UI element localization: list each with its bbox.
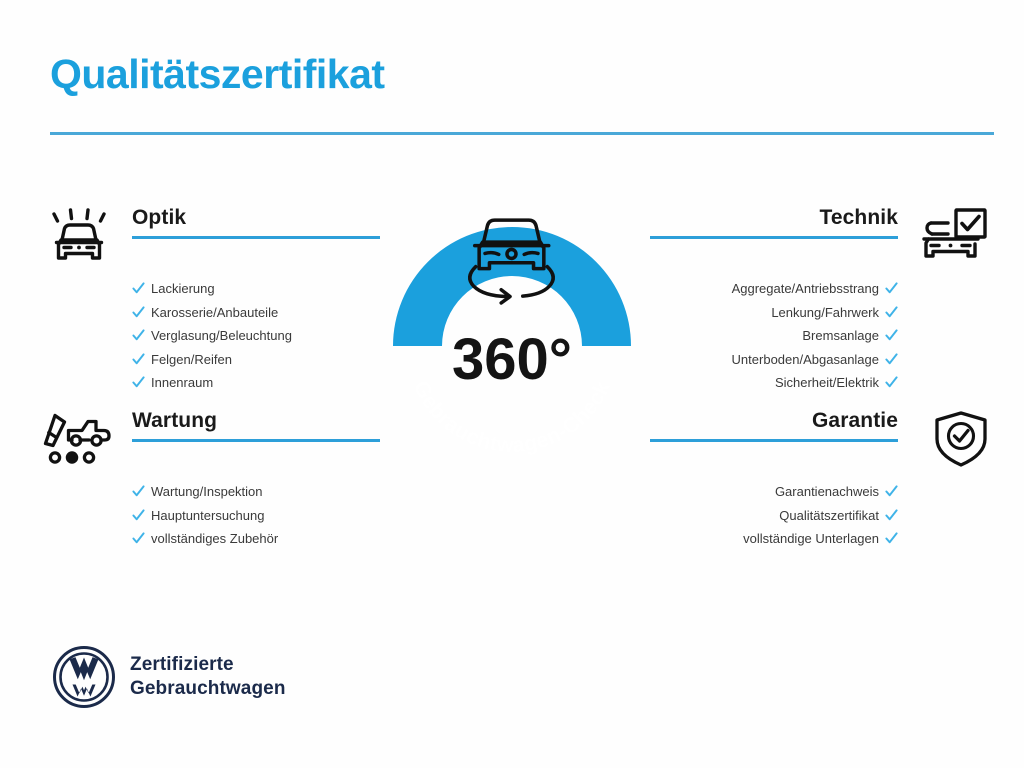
list-item-label: Karosserie/Anbauteile	[151, 306, 278, 319]
section-wartung: Wartung Wartung/Inspektion Hauptuntersuc…	[28, 408, 388, 470]
volkswagen-logo	[52, 645, 116, 709]
list-item: vollständige Unterlagen	[650, 527, 898, 551]
section-optik: Optik Lackierung Karosserie/Anbauteile V…	[28, 205, 388, 267]
checklist-technik: Aggregate/Antriebsstrang Lenkung/Fahrwer…	[650, 277, 898, 395]
section-title: Wartung	[132, 408, 380, 439]
list-item-label: Wartung/Inspektion	[151, 485, 263, 498]
list-item-label: Felgen/Reifen	[151, 353, 232, 366]
volkswagen-logo-lockup: Zertifizierte Gebrauchtwagen	[52, 645, 286, 709]
check-icon	[885, 509, 898, 522]
page-title: Qualitätszertifikat	[50, 52, 385, 97]
section-garantie: Garantie Garantienachweis Qualitätszerti…	[636, 408, 996, 470]
list-item-label: Lackierung	[151, 282, 215, 295]
list-item: Sicherheit/Elektrik	[650, 371, 898, 395]
section-header: Garantie	[636, 408, 996, 470]
check-icon	[132, 353, 145, 366]
list-item: vollständiges Zubehör	[132, 527, 380, 551]
list-item-label: vollständige Unterlagen	[743, 532, 879, 545]
check-icon	[132, 532, 145, 545]
list-item: Lackierung	[132, 277, 380, 301]
section-underline	[650, 439, 898, 442]
section-underline	[132, 236, 380, 239]
checklist-wartung: Wartung/Inspektion Hauptuntersuchung vol…	[132, 480, 380, 551]
list-item-label: Qualitätszertifikat	[779, 509, 879, 522]
list-item-label: Aggregate/Antriebsstrang	[732, 282, 879, 295]
list-item: Unterboden/Abgasanlage	[650, 348, 898, 372]
check-icon	[885, 282, 898, 295]
section-header: Technik	[636, 205, 996, 267]
section-title-wrap: Wartung	[132, 408, 380, 442]
section-title: Technik	[650, 205, 898, 236]
check-icon	[132, 485, 145, 498]
shield-check-icon	[906, 408, 992, 470]
pencil-car-icon	[42, 408, 128, 470]
check-icon	[885, 353, 898, 366]
list-item: Garantienachweis	[650, 480, 898, 504]
checklist-garantie: Garantienachweis Qualitätszertifikat vol…	[650, 480, 898, 551]
section-underline	[132, 439, 380, 442]
section-header: Optik	[28, 205, 388, 267]
checklist-optik: Lackierung Karosserie/Anbauteile Verglas…	[132, 277, 380, 395]
car-checkbox-icon	[906, 205, 992, 267]
badge-svg: 360° Gebrauchtwagen-Check	[374, 196, 650, 486]
list-item-label: Hauptuntersuchung	[151, 509, 264, 522]
check-icon	[885, 306, 898, 319]
check-icon	[885, 329, 898, 342]
list-item-label: Bremsanlage	[802, 329, 879, 342]
list-item-label: Verglasung/Beleuchtung	[151, 329, 292, 342]
list-item: Qualitätszertifikat	[650, 504, 898, 528]
check-icon	[885, 376, 898, 389]
section-header: Wartung	[28, 408, 388, 470]
check-icon	[132, 376, 145, 389]
list-item-label: Unterboden/Abgasanlage	[732, 353, 879, 366]
volkswagen-wordmark: Zertifizierte Gebrauchtwagen	[130, 653, 286, 702]
car-shine-icon	[42, 205, 128, 267]
check-icon	[132, 282, 145, 295]
section-title-wrap: Garantie	[650, 408, 898, 442]
list-item: Bremsanlage	[650, 324, 898, 348]
list-item: Felgen/Reifen	[132, 348, 380, 372]
list-item: Innenraum	[132, 371, 380, 395]
list-item: Wartung/Inspektion	[132, 480, 380, 504]
vw-line-1: Zertifizierte	[130, 653, 286, 677]
list-item-label: vollständiges Zubehör	[151, 532, 278, 545]
check-icon	[885, 532, 898, 545]
check-icon	[885, 485, 898, 498]
title-divider	[50, 132, 994, 135]
list-item-label: Garantienachweis	[775, 485, 879, 498]
section-title: Garantie	[650, 408, 898, 439]
section-technik: Technik Aggregate/Antriebsstrang Lenkung…	[636, 205, 996, 267]
list-item-label: Lenkung/Fahrwerk	[771, 306, 879, 319]
check-icon	[132, 509, 145, 522]
vw-line-2: Gebrauchtwagen	[130, 677, 286, 701]
list-item: Lenkung/Fahrwerk	[650, 301, 898, 325]
certificate-page: Qualitätszertifikat Optik	[0, 0, 1024, 768]
section-title-wrap: Optik	[132, 205, 380, 239]
list-item-label: Sicherheit/Elektrik	[775, 376, 879, 389]
list-item: Karosserie/Anbauteile	[132, 301, 380, 325]
list-item: Verglasung/Beleuchtung	[132, 324, 380, 348]
list-item-label: Innenraum	[151, 376, 213, 389]
check-icon	[132, 306, 145, 319]
section-title-wrap: Technik	[650, 205, 898, 239]
check-icon	[132, 329, 145, 342]
section-underline	[650, 236, 898, 239]
section-title: Optik	[132, 205, 380, 236]
badge-360-gebrauchtwagen-check: 360° Gebrauchtwagen-Check	[374, 196, 650, 486]
list-item: Hauptuntersuchung	[132, 504, 380, 528]
list-item: Aggregate/Antriebsstrang	[650, 277, 898, 301]
badge-center-label: 360°	[452, 327, 572, 392]
